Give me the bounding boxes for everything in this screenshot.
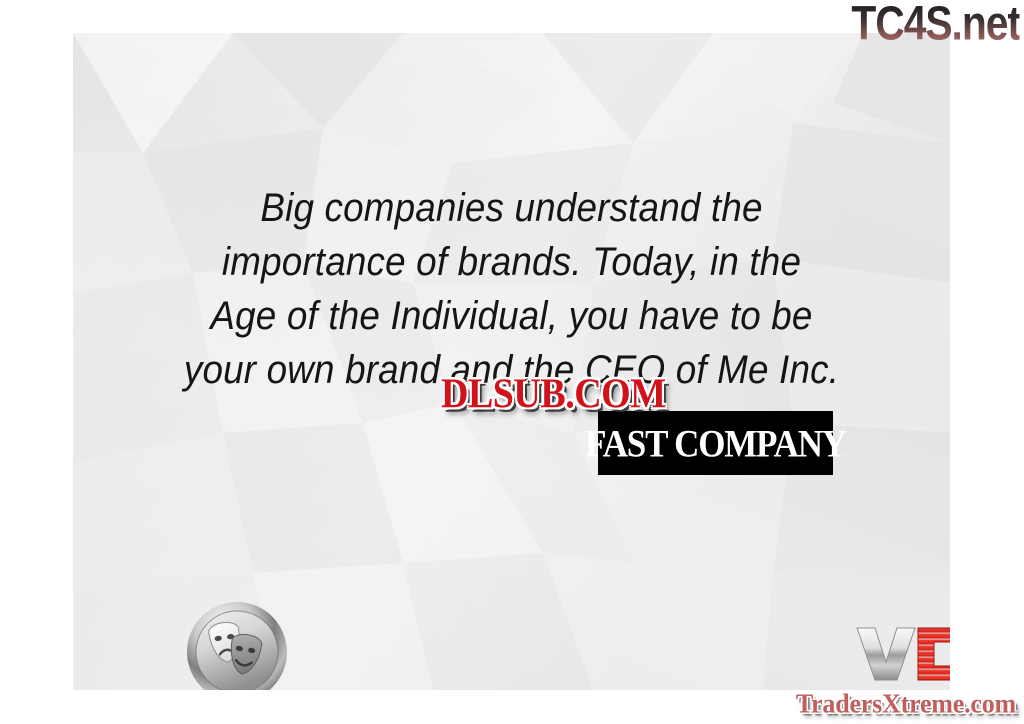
fast-company-wordmark: FAST COMPANY bbox=[585, 423, 846, 462]
vcf-logo bbox=[855, 622, 950, 684]
quote-line-2: importance of brands. Today, in the bbox=[108, 235, 915, 289]
fast-company-logo: FAST COMPANY bbox=[598, 411, 833, 475]
quote-line-3: Age of the Individual, you have to be bbox=[108, 289, 915, 343]
dlsub-watermark: DLSUB.COM bbox=[441, 369, 666, 418]
tc4s-watermark: TC4S.net bbox=[851, 0, 1020, 51]
quote-text-block: Big companies understand the importance … bbox=[73, 181, 950, 397]
tradersxtreme-watermark: TradersXtreme.com bbox=[796, 688, 1016, 720]
quote-line-1: Big companies understand the bbox=[108, 181, 915, 235]
vcf-letter-c bbox=[918, 628, 950, 680]
theater-masks-icon bbox=[186, 601, 288, 690]
slide-content-panel: Big companies understand the importance … bbox=[73, 33, 950, 690]
vcf-letter-v bbox=[857, 628, 915, 680]
